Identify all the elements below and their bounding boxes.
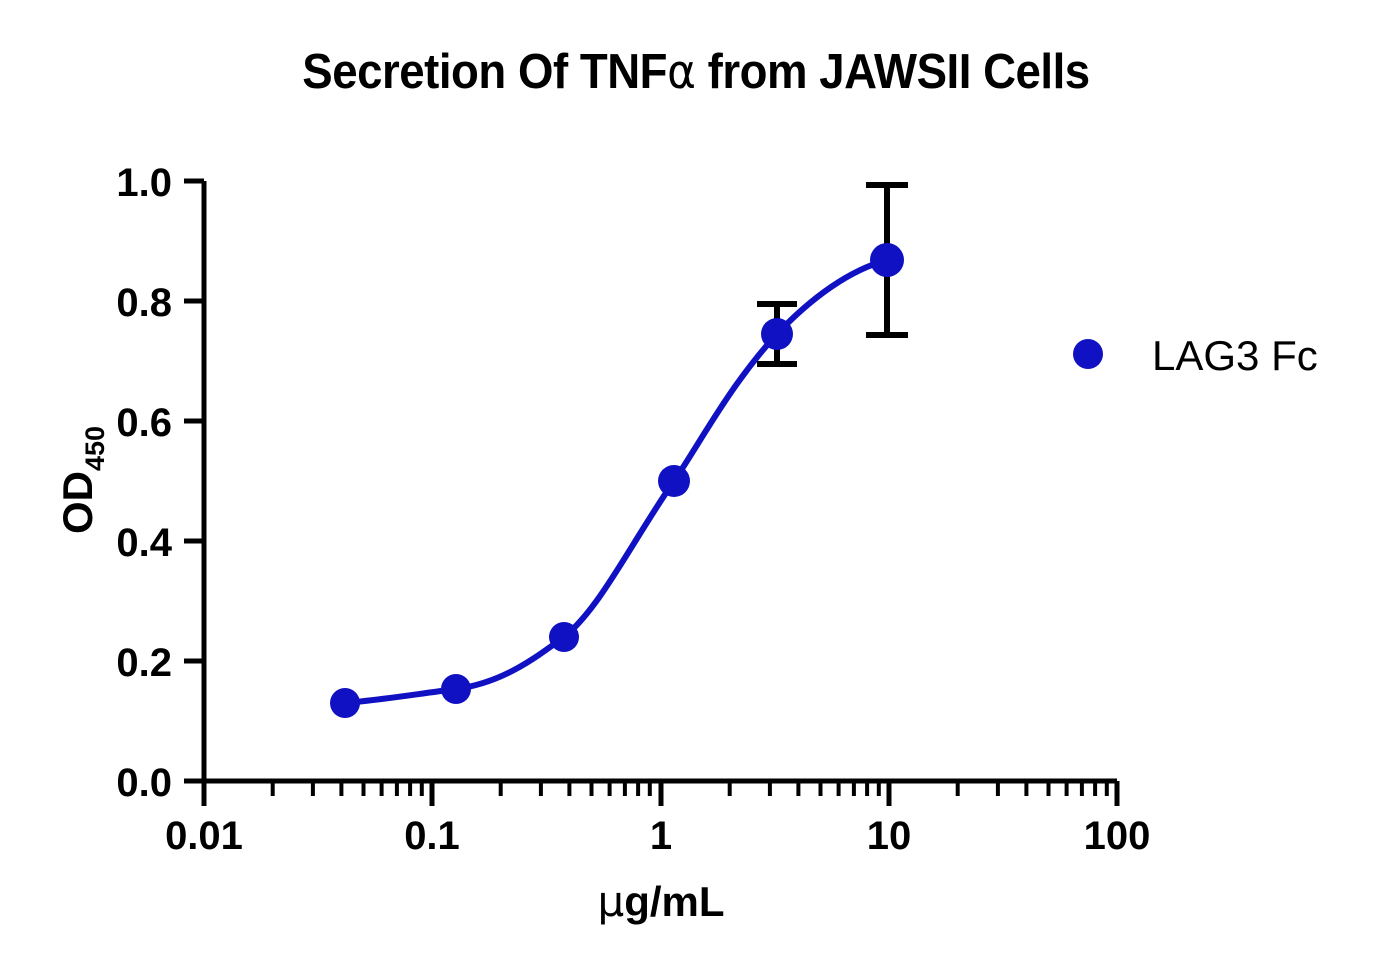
data-point-markers [330,243,904,718]
plot-canvas: 1.0 0.8 0.6 0.4 0.2 0.0 [0,0,1392,972]
y-tick-label: 1.0 [116,161,172,205]
data-point[interactable] [870,243,904,277]
x-tick-label: 10 [867,814,912,858]
legend-marker-lag3-fc [1073,339,1103,369]
data-point[interactable] [330,688,360,718]
x-axis-title-mu-symbol: μ [597,877,624,926]
x-tick-label: 1 [650,814,672,858]
y-axis-title-main: OD [54,471,101,534]
data-point[interactable] [658,465,690,497]
x-tick-label: 100 [1084,814,1151,858]
y-axis-ticks [184,181,204,781]
y-axis-tick-labels: 1.0 0.8 0.6 0.4 0.2 0.0 [116,161,172,805]
x-axis-tick-labels: 0.01 0.1 1 10 100 [165,814,1150,858]
fit-curve-lag3-fc [345,260,887,703]
svg-text:OD450: OD450 [54,426,110,534]
data-point[interactable] [441,674,471,704]
y-axis-title-subscript: 450 [80,426,110,471]
data-point[interactable] [761,318,793,350]
y-tick-label: 0.8 [116,281,172,325]
y-tick-label: 0.0 [116,761,172,805]
y-tick-label: 0.6 [116,401,172,445]
x-axis-title: μg/mL [597,877,724,926]
chart-figure: Secretion Of TNFα from JAWSII Cells 1.0 … [0,0,1392,972]
y-tick-label: 0.4 [116,521,172,565]
x-tick-label: 0.1 [404,814,460,858]
x-tick-label: 0.01 [165,814,243,858]
y-axis-title: OD450 [54,426,110,534]
y-tick-label: 0.2 [116,641,172,685]
x-axis-title-rest: g/mL [624,878,724,925]
data-point[interactable] [549,622,579,652]
legend: LAG3 Fc [1073,332,1318,379]
legend-label-lag3-fc: LAG3 Fc [1152,332,1318,379]
